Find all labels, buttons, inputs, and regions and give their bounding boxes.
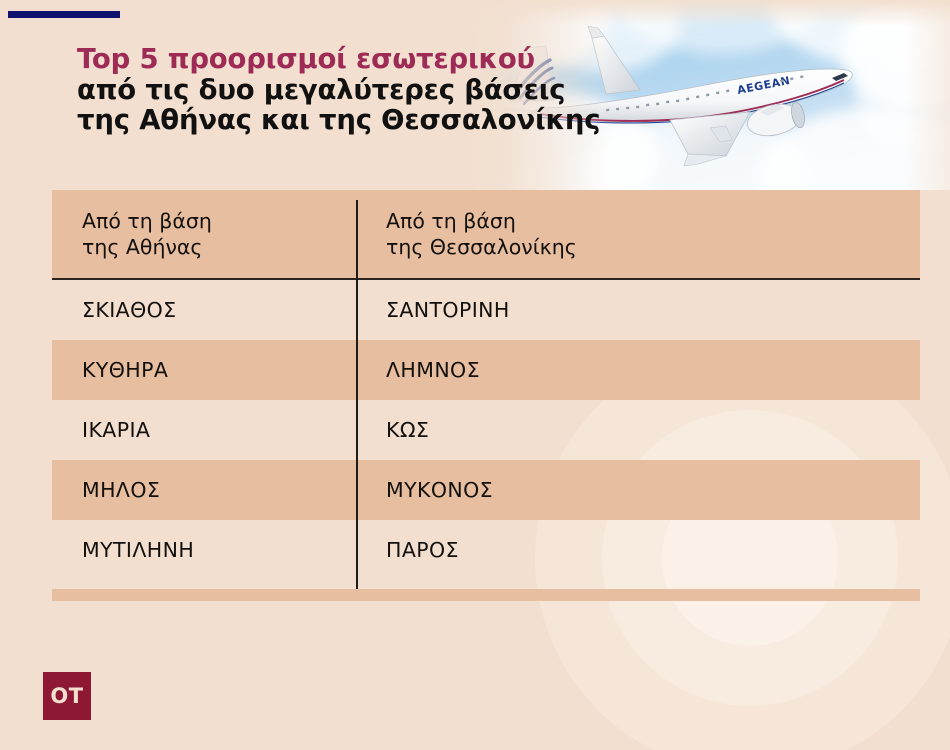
- destinations-table: Από τη βάση της Αθήνας Από τη βάση της Θ…: [52, 190, 920, 580]
- infographic-canvas: AEGEAN: [0, 0, 950, 750]
- navy-accent-rule: [8, 11, 120, 18]
- cell-thessaloniki-destination: ΜΥΚΟΝΟΣ: [356, 478, 920, 502]
- column-divider-line: [356, 200, 358, 590]
- table-row: ΜΥΤΙΛΗΝΗ ΠΑΡΟΣ: [52, 520, 920, 580]
- table-bottom-bar: [52, 589, 920, 601]
- cell-athens-destination: ΜΥΤΙΛΗΝΗ: [52, 538, 356, 562]
- table-row: ΜΗΛΟΣ ΜΥΚΟΝΟΣ: [52, 460, 920, 520]
- column-header-athens: Από τη βάση της Αθήνας: [52, 208, 356, 260]
- table-row: ΙΚΑΡΙΑ ΚΩΣ: [52, 400, 920, 460]
- photo-fade-right: [904, 0, 950, 190]
- cell-athens-destination: ΣΚΙΑΘΟΣ: [52, 298, 356, 322]
- table-row: ΣΚΙΑΘΟΣ ΣΑΝΤΟΡΙΝΗ: [52, 280, 920, 340]
- cell-athens-destination: ΙΚΑΡΙΑ: [52, 418, 356, 442]
- cell-thessaloniki-destination: ΣΑΝΤΟΡΙΝΗ: [356, 298, 920, 322]
- table-header-row: Από τη βάση της Αθήνας Από τη βάση της Θ…: [52, 190, 920, 280]
- cell-athens-destination: ΚΥΘΗΡΑ: [52, 358, 356, 382]
- table-row: ΚΥΘΗΡΑ ΛΗΜΝΟΣ: [52, 340, 920, 400]
- column-header-athens-line2: της Αθήνας: [82, 234, 356, 260]
- headline-line-1: Top 5 προορισμοί εσωτερικού: [77, 44, 637, 75]
- ot-logo: OT: [43, 672, 91, 720]
- cell-thessaloniki-destination: ΠΑΡΟΣ: [356, 538, 920, 562]
- ot-logo-text: OT: [50, 684, 83, 708]
- cell-thessaloniki-destination: ΚΩΣ: [356, 418, 920, 442]
- cell-thessaloniki-destination: ΛΗΜΝΟΣ: [356, 358, 920, 382]
- column-header-thessaloniki-line2: της Θεσσαλονίκης: [386, 234, 920, 260]
- cell-athens-destination: ΜΗΛΟΣ: [52, 478, 356, 502]
- headline-line-2: από τις δυο μεγαλύτερες βάσεις: [77, 75, 637, 106]
- headline-block: Top 5 προορισμοί εσωτερικού από τις δυο …: [77, 44, 637, 136]
- column-header-thessaloniki: Από τη βάση της Θεσσαλονίκης: [356, 208, 920, 260]
- column-header-thessaloniki-line1: Από τη βάση: [386, 208, 920, 234]
- column-header-athens-line1: Από τη βάση: [82, 208, 356, 234]
- headline-line-3: της Αθήνας και της Θεσσαλονίκης: [77, 105, 637, 136]
